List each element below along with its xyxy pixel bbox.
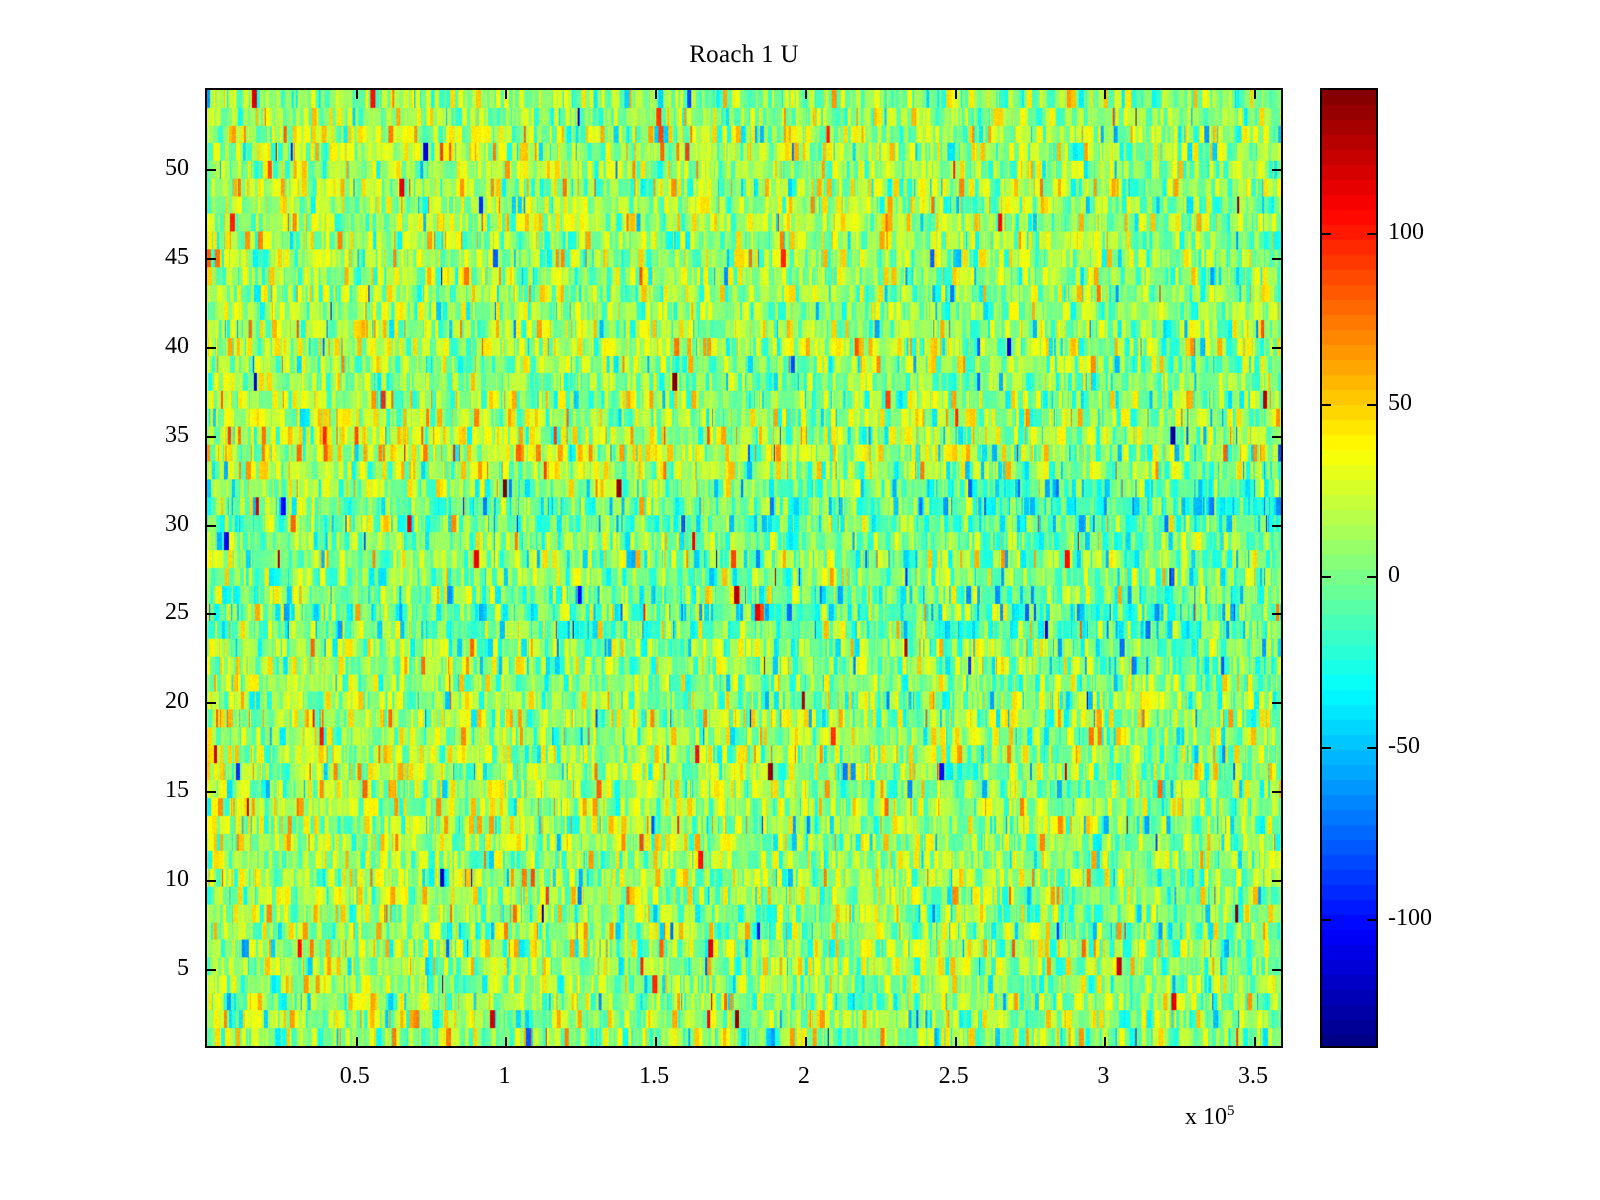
colorbar-tick-label: 0 [1388, 563, 1400, 587]
colorbar-tick-mark [1322, 404, 1331, 406]
x-axis-tick-label: 3.5 [1193, 1064, 1313, 1088]
y-axis-tick-mark [1272, 258, 1281, 260]
x-axis-tick-label: 3 [1043, 1064, 1163, 1088]
x-exponent-mantissa: x 10 [1185, 1104, 1227, 1130]
colorbar-tick-label: 50 [1388, 391, 1412, 415]
y-axis-tick-mark [207, 169, 216, 171]
y-axis-tick-mark [1272, 613, 1281, 615]
colorbar-tick-label: 100 [1388, 220, 1424, 244]
y-axis-tick-mark [1272, 880, 1281, 882]
y-axis-tick-mark [1272, 169, 1281, 171]
y-axis-tick-mark [1272, 791, 1281, 793]
chart-title: Roach 1 U [205, 40, 1283, 70]
colorbar[interactable] [1320, 88, 1378, 1048]
y-axis-tick-label: 5 [127, 956, 189, 980]
x-axis-tick-mark [955, 90, 957, 99]
y-axis-tick-label: 50 [127, 156, 189, 180]
y-axis-tick-label: 35 [127, 423, 189, 447]
colorbar-tick-mark [1367, 404, 1376, 406]
x-axis-tick-mark [1254, 1037, 1256, 1046]
y-axis-tick-mark [207, 613, 216, 615]
colorbar-tick-mark [1367, 576, 1376, 578]
y-axis-tick-mark [207, 525, 216, 527]
y-axis-tick-mark [207, 791, 216, 793]
x-axis-tick-mark [655, 1037, 657, 1046]
heatmap-axes[interactable] [205, 88, 1283, 1048]
heatmap-image [207, 90, 1281, 1046]
y-axis-tick-mark [1272, 969, 1281, 971]
colorbar-tick-mark [1367, 233, 1376, 235]
x-exponent-power: 5 [1227, 1103, 1235, 1119]
colorbar-tick-mark [1322, 919, 1331, 921]
x-axis-tick-label: 1 [444, 1064, 564, 1088]
colorbar-tick-label: -100 [1388, 906, 1432, 930]
y-axis-tick-label: 20 [127, 689, 189, 713]
x-axis-tick-mark [505, 1037, 507, 1046]
x-axis-tick-label: 2.5 [894, 1064, 1014, 1088]
x-axis-tick-mark [1104, 1037, 1106, 1046]
y-axis-tick-label: 45 [127, 245, 189, 269]
y-axis-tick-mark [207, 436, 216, 438]
x-axis-tick-mark [955, 1037, 957, 1046]
x-axis-tick-label: 2 [744, 1064, 864, 1088]
x-axis-tick-mark [1104, 90, 1106, 99]
x-axis-tick-mark [505, 90, 507, 99]
y-axis-tick-mark [207, 969, 216, 971]
y-axis-tick-label: 40 [127, 334, 189, 358]
y-axis-tick-mark [207, 702, 216, 704]
y-axis-tick-mark [207, 880, 216, 882]
y-axis-tick-mark [1272, 702, 1281, 704]
x-axis-tick-mark [805, 1037, 807, 1046]
y-axis-tick-label: 15 [127, 778, 189, 802]
colorbar-tick-mark [1322, 233, 1331, 235]
y-axis-tick-label: 10 [127, 867, 189, 891]
x-axis-tick-mark [356, 1037, 358, 1046]
y-axis-tick-mark [1272, 347, 1281, 349]
y-axis-tick-mark [207, 347, 216, 349]
y-axis-tick-mark [1272, 525, 1281, 527]
colorbar-tick-mark [1367, 747, 1376, 749]
colorbar-tick-mark [1367, 919, 1376, 921]
colorbar-tick-label: -50 [1388, 734, 1420, 758]
y-axis-tick-mark [1272, 436, 1281, 438]
y-axis-tick-label: 30 [127, 512, 189, 536]
figure-canvas: Roach 1 U 5101520253035404550 0.511.522.… [0, 0, 1600, 1200]
x-axis-tick-label: 1.5 [594, 1064, 714, 1088]
x-axis-exponent-label: x 105 [1185, 1104, 1235, 1130]
y-axis-tick-mark [207, 258, 216, 260]
colorbar-tick-mark [1322, 576, 1331, 578]
x-axis-tick-mark [356, 90, 358, 99]
x-axis-tick-label: 0.5 [295, 1064, 415, 1088]
colorbar-tick-mark [1322, 747, 1331, 749]
x-axis-tick-mark [805, 90, 807, 99]
x-axis-tick-mark [1254, 90, 1256, 99]
x-axis-tick-mark [655, 90, 657, 99]
y-axis-tick-label: 25 [127, 600, 189, 624]
